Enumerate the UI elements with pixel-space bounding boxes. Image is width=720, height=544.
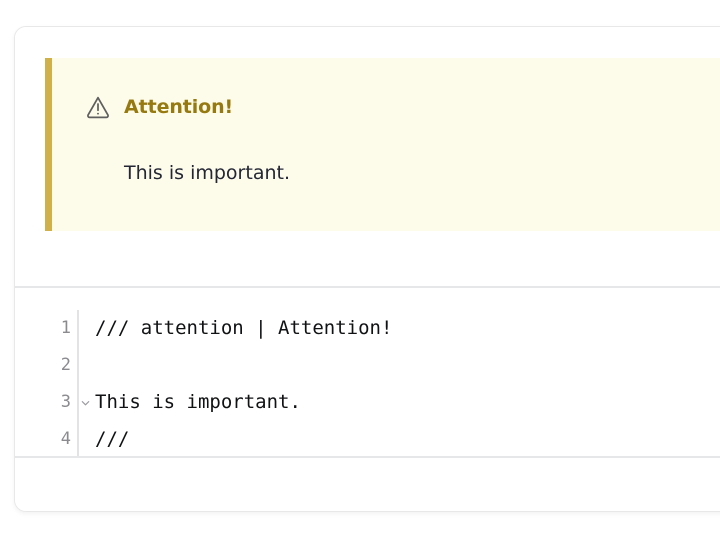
code-area[interactable]: 1 2 3 4 bbox=[15, 310, 720, 456]
line-number: 4 bbox=[61, 431, 71, 448]
card-footer bbox=[15, 460, 720, 511]
admonition-title: Attention! bbox=[124, 96, 233, 118]
line-number-gutter: 1 2 3 4 bbox=[15, 310, 79, 456]
gutter-line-4: 4 bbox=[15, 421, 77, 458]
code-content[interactable]: /// attention | Attention! This is impor… bbox=[79, 310, 720, 456]
gutter-line-1: 1 bbox=[15, 310, 77, 347]
warning-triangle-icon bbox=[85, 94, 111, 120]
code-line[interactable]: /// bbox=[95, 421, 720, 458]
gutter-line-3: 3 bbox=[15, 384, 77, 421]
code-line[interactable]: This is important. bbox=[95, 384, 720, 421]
admonition-body-text: This is important. bbox=[124, 162, 290, 184]
code-editor-pane[interactable]: 1 2 3 4 bbox=[15, 290, 720, 458]
line-number: 3 bbox=[61, 394, 71, 411]
preview-pane: Attention! This is important. bbox=[15, 27, 720, 288]
line-number: 1 bbox=[61, 320, 71, 337]
admonition-header: Attention! bbox=[85, 94, 233, 120]
line-number: 2 bbox=[61, 357, 71, 374]
code-line[interactable] bbox=[95, 347, 720, 384]
admonition-attention: Attention! This is important. bbox=[45, 58, 720, 231]
code-line[interactable]: /// attention | Attention! bbox=[95, 310, 720, 347]
example-card: Attention! This is important. 1 2 3 bbox=[14, 26, 720, 512]
gutter-line-2: 2 bbox=[15, 347, 77, 384]
screen-root: Attention! This is important. 1 2 3 bbox=[0, 0, 720, 544]
chevron-down-icon[interactable] bbox=[80, 397, 91, 408]
